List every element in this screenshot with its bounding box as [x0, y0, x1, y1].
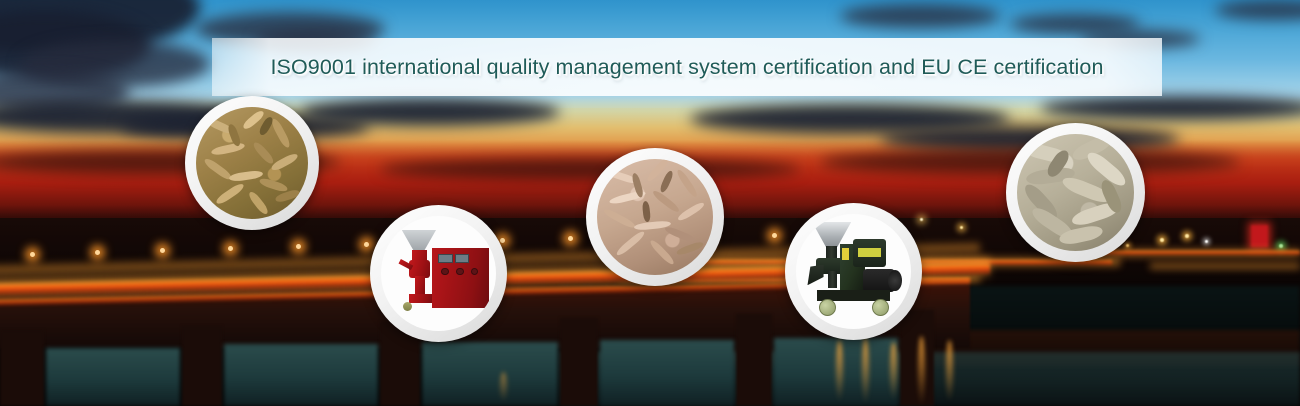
- photo-inner: [196, 107, 309, 220]
- bridge-pier: [736, 314, 772, 406]
- bridge-lamp: [364, 242, 369, 247]
- light-reflection: [500, 372, 507, 402]
- mill-nameplate: [858, 248, 881, 256]
- mill-wheel: [819, 299, 836, 316]
- bridge-lamp: [95, 250, 100, 255]
- bridge-lamp: [568, 236, 573, 241]
- page-title: ISO9001 international quality management…: [212, 38, 1162, 96]
- circle-red-pellet-mill[interactable]: [370, 205, 507, 342]
- mill-shaft: [828, 271, 837, 287]
- bridge-lamp: [296, 244, 301, 249]
- bridge-lamp: [30, 252, 35, 257]
- water-under-arch: [46, 348, 180, 406]
- cabinet-knob: [441, 268, 449, 276]
- light-reflection: [946, 340, 953, 402]
- bridge-pier: [560, 318, 598, 406]
- hero-banner: ISO9001 international quality management…: [0, 0, 1300, 406]
- light-reflection: [836, 340, 843, 402]
- water-under-arch: [600, 340, 734, 406]
- mill-wheel: [872, 299, 889, 316]
- circle-wood-pellets-gold[interactable]: [185, 96, 319, 230]
- photo-inner: [1017, 134, 1134, 251]
- photo-inner: [796, 214, 911, 329]
- light-reflection: [918, 336, 925, 406]
- bridge-pier: [0, 330, 44, 406]
- city-light: [920, 218, 923, 221]
- circle-wood-pellets-pink[interactable]: [586, 148, 724, 286]
- city-light-strip-2: [1150, 262, 1300, 270]
- cabinet-knob: [456, 268, 464, 276]
- city-light: [960, 226, 963, 229]
- mill-motor-fan-cover: [888, 270, 902, 291]
- bridge-lamp: [160, 248, 165, 253]
- photo-inner: [597, 159, 713, 275]
- city-light: [1205, 240, 1208, 243]
- city-light: [1160, 238, 1164, 242]
- bridge-lamp: [228, 246, 233, 251]
- water-under-arch: [422, 342, 558, 406]
- city-light: [1185, 234, 1189, 238]
- bridge-lamp: [500, 238, 505, 243]
- cabinet-meter: [438, 254, 453, 263]
- circle-wood-pellets-pale[interactable]: [1006, 123, 1145, 262]
- photo-inner: [381, 216, 496, 331]
- water-under-arch: [224, 344, 378, 406]
- skyline-red-building: [1251, 225, 1268, 247]
- light-reflection: [862, 338, 869, 404]
- bridge-lamp: [772, 233, 777, 238]
- cabinet-meter: [455, 254, 470, 263]
- bridge-pier: [182, 326, 222, 406]
- light-reflection: [890, 342, 897, 400]
- mill-warning-label: [842, 248, 849, 260]
- mill-base: [409, 294, 432, 303]
- circle-green-pellet-mill[interactable]: [785, 203, 922, 340]
